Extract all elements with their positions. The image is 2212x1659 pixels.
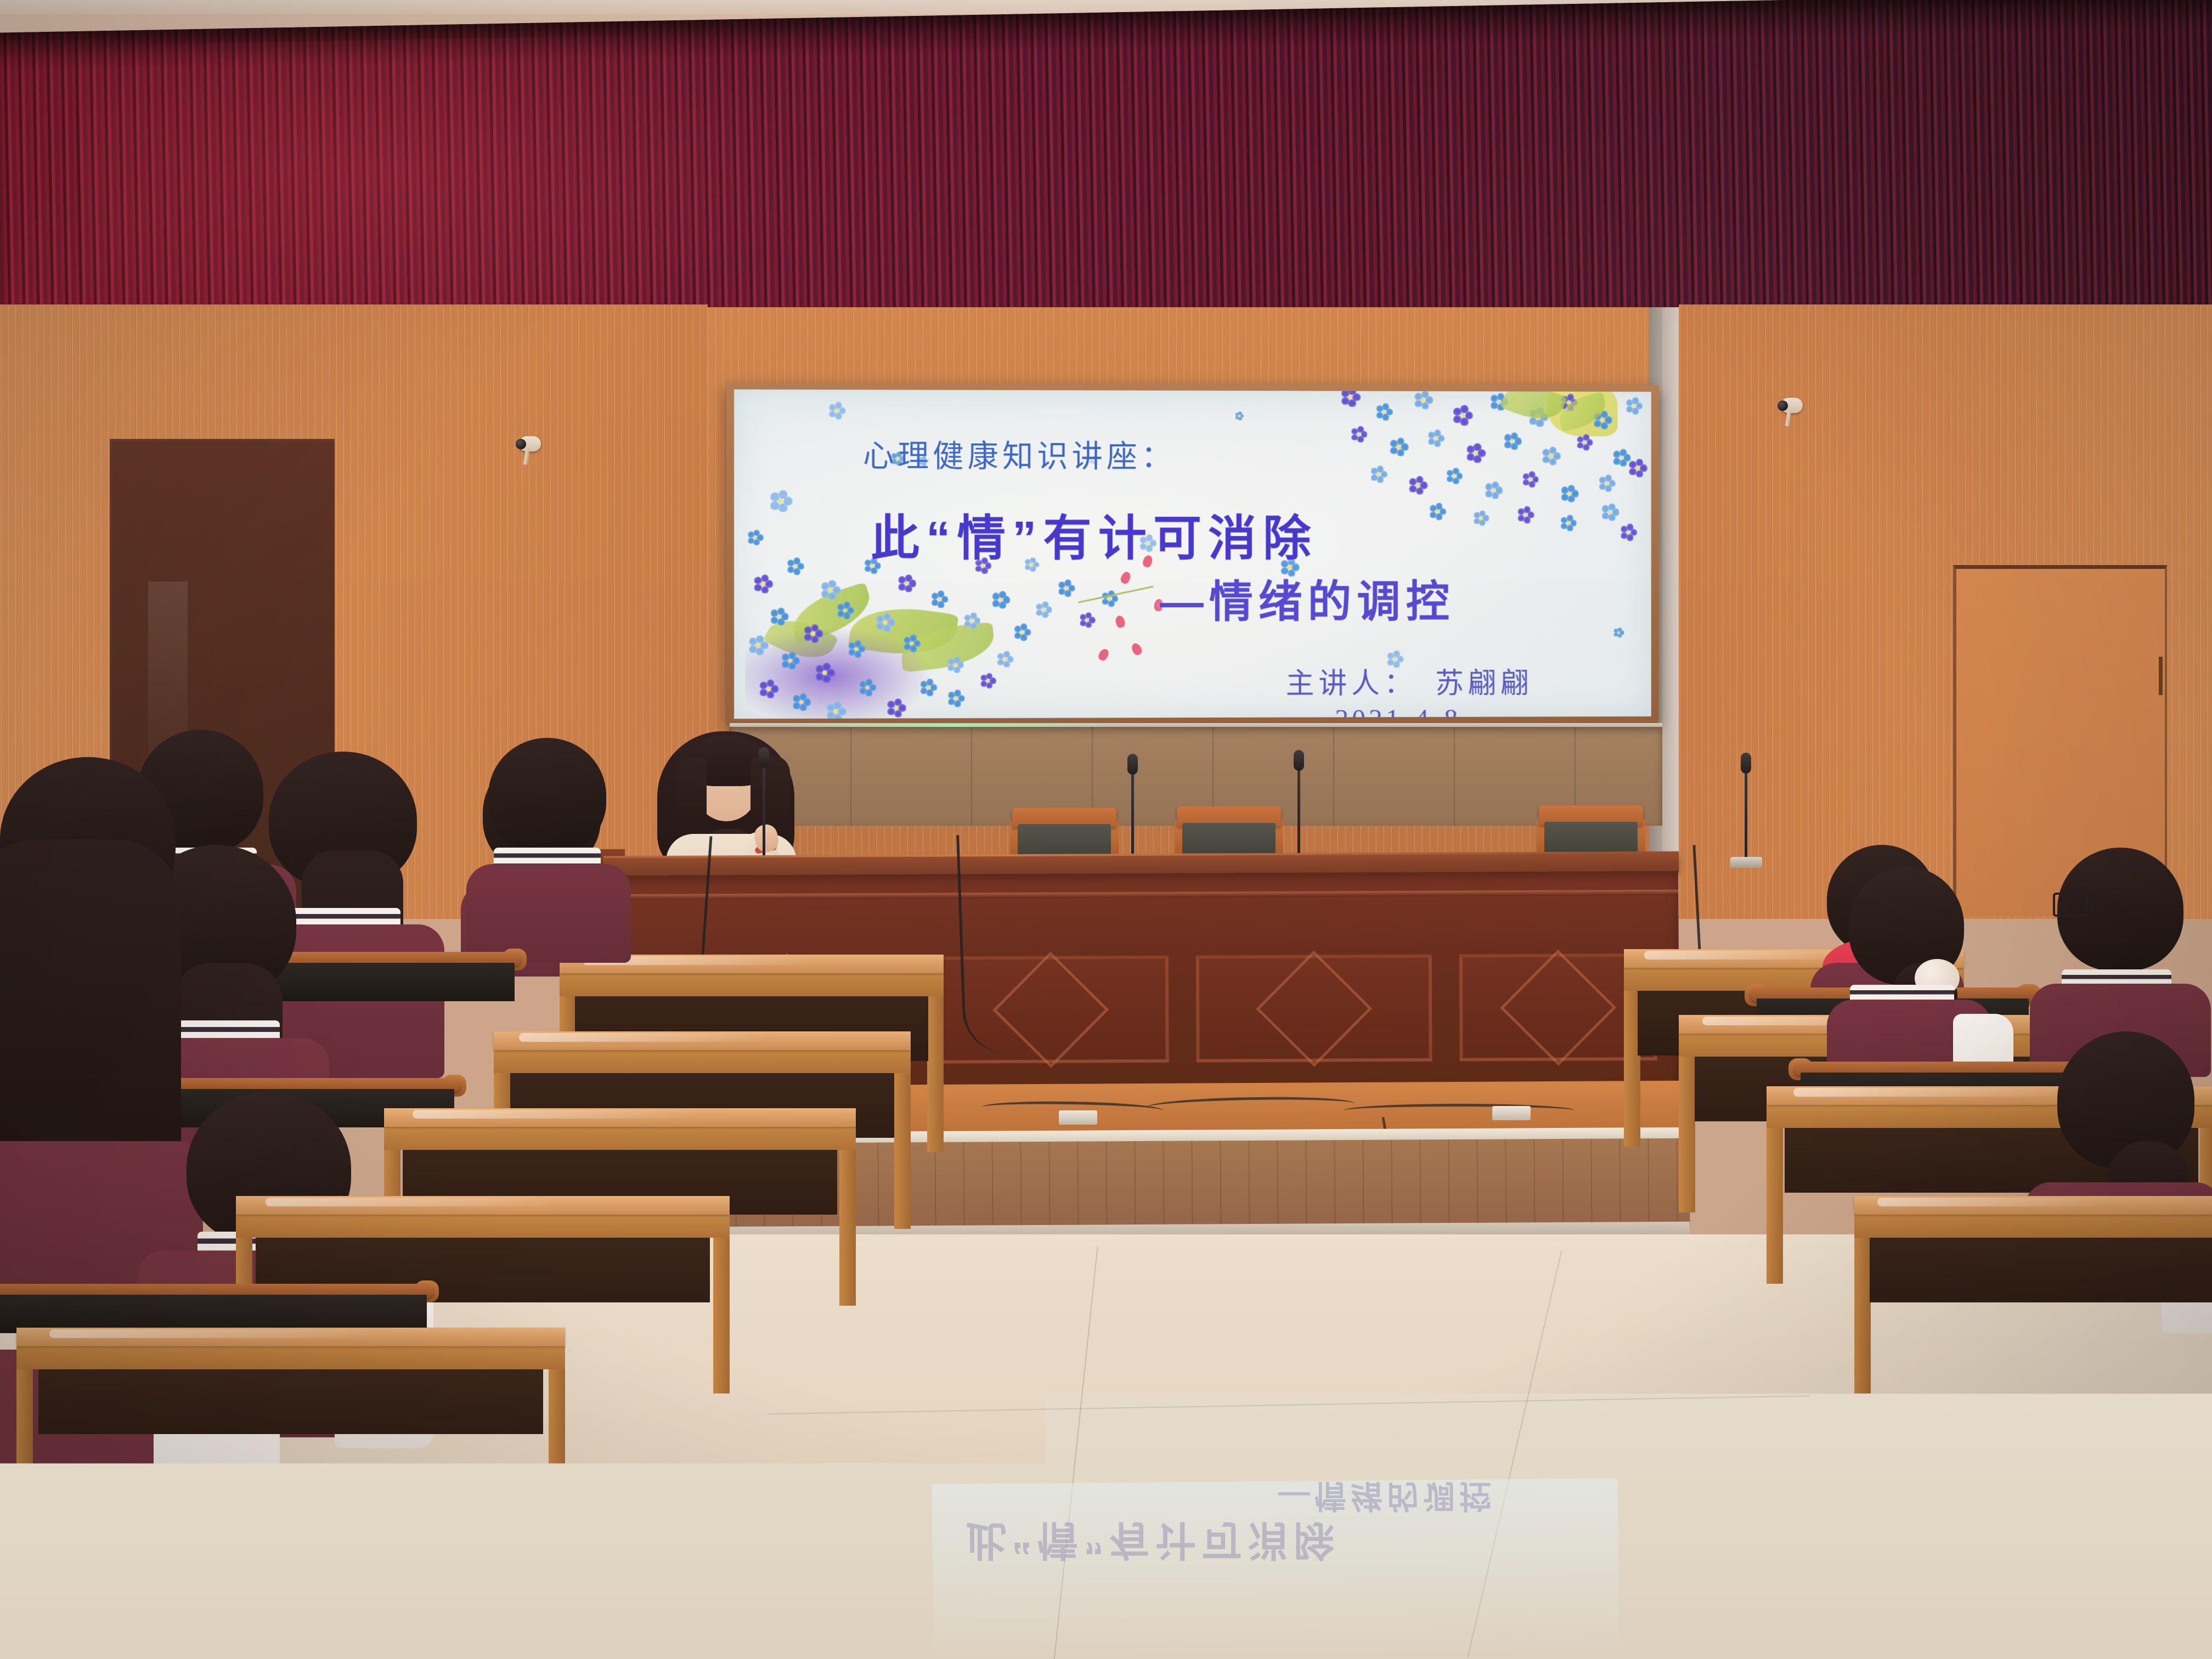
flower-icon [757,676,781,701]
flower-icon [901,633,923,654]
flower-icon [895,572,918,595]
flower-icon [884,696,908,719]
flower-icon [995,648,1015,669]
slide-title: 此“情”有计可消除 [871,499,1317,569]
flower-icon [1623,395,1644,417]
flower-icon [1471,508,1491,528]
flower-icon [823,698,849,719]
flower-icon [978,671,998,691]
flower-icon [1449,402,1476,428]
flower-icon [1348,424,1369,445]
flower-icon [834,599,856,621]
flower-icon [1444,466,1465,487]
flower-icon [1575,432,1595,453]
lecture-hall-photo: 心理健康知识讲座： 此“情”有计可消除 —情绪的调控 主讲人： 苏翩翩 2021… [0,0,2212,1659]
flower-icon [945,687,967,709]
flower-icon [1612,626,1626,639]
projection-screen: 心理健康知识讲座： 此“情”有计可消除 —情绪的调控 主讲人： 苏翩翩 2021… [734,390,1651,719]
flower-icon [1482,479,1505,502]
flower-icon [917,676,939,698]
flower-icon [1539,444,1562,468]
slide-heading: 心理健康知识讲座： [863,431,1176,476]
flower-icon [1234,410,1245,421]
flower-icon [801,622,826,646]
flower-icon [856,676,878,698]
flower-icon [989,588,1012,611]
flower-icon [1501,430,1524,453]
slide-subtitle: —情绪的调控 [1160,566,1455,630]
flower-icon [1558,482,1581,505]
flower-icon [1599,501,1621,524]
security-camera-icon [1778,398,1803,416]
flower-icon [1426,500,1448,522]
flower-icon [1387,435,1411,459]
flower-icon [845,638,867,660]
flower-icon [1033,599,1054,620]
flower-icon [962,610,983,631]
flower-icon [1077,610,1097,630]
flower-icon [789,691,813,714]
student-r2 [1827,867,1991,1064]
flower-icon [812,660,838,685]
door-hinge [2159,657,2163,695]
flower-icon [928,588,950,610]
flower-icon [766,487,795,515]
flower-icon [1406,473,1430,497]
student-l3 [466,738,631,957]
security-camera-icon [516,436,541,455]
flower-icon [1338,390,1363,410]
flower-icon [768,605,791,628]
flower-icon [1618,521,1639,543]
flower-icon [1425,427,1447,449]
flower-icon [745,633,771,658]
flower-icon [751,572,776,596]
cable-floor-plate [1059,1110,1097,1125]
flower-icon [1368,463,1390,485]
flower-icon [1412,390,1436,412]
floor-reflection-text: 此“情”有计可消除 [966,1514,1340,1573]
flower-icon [1520,469,1541,490]
flower-icon [745,528,765,548]
cable-floor-plate [1492,1106,1531,1120]
flower-icon [1515,504,1537,526]
flower-icon [1011,621,1033,643]
flower-icon [1055,577,1077,599]
flower-icon [1099,588,1120,609]
flower-icon [784,555,806,577]
flower-icon [1463,441,1488,466]
flower-icon [1373,401,1395,423]
slide-date: 2021-4-8 [1335,703,1461,719]
flower-icon [778,649,802,672]
podium-panel [1196,955,1432,1063]
projection-screen-frame: 心理健康知识讲座： 此“情”有计可消除 —情绪的调控 主讲人： 苏翩翩 2021… [726,383,1659,726]
flower-icon [873,610,897,634]
slide-presenter-line: 主讲人： 苏翩翩 [1286,660,1533,702]
audience-desk [0,1536,428,1659]
flower-icon [945,654,966,675]
flower-icon [1626,456,1649,480]
floor-reflection-text: —情绪的调控 [1278,1476,1496,1522]
flower-icon [1558,512,1579,533]
flower-icon [826,399,848,421]
flower-icon [1596,472,1617,494]
audience-desk [1854,1196,2212,1426]
microphone-cable [956,833,1030,1054]
